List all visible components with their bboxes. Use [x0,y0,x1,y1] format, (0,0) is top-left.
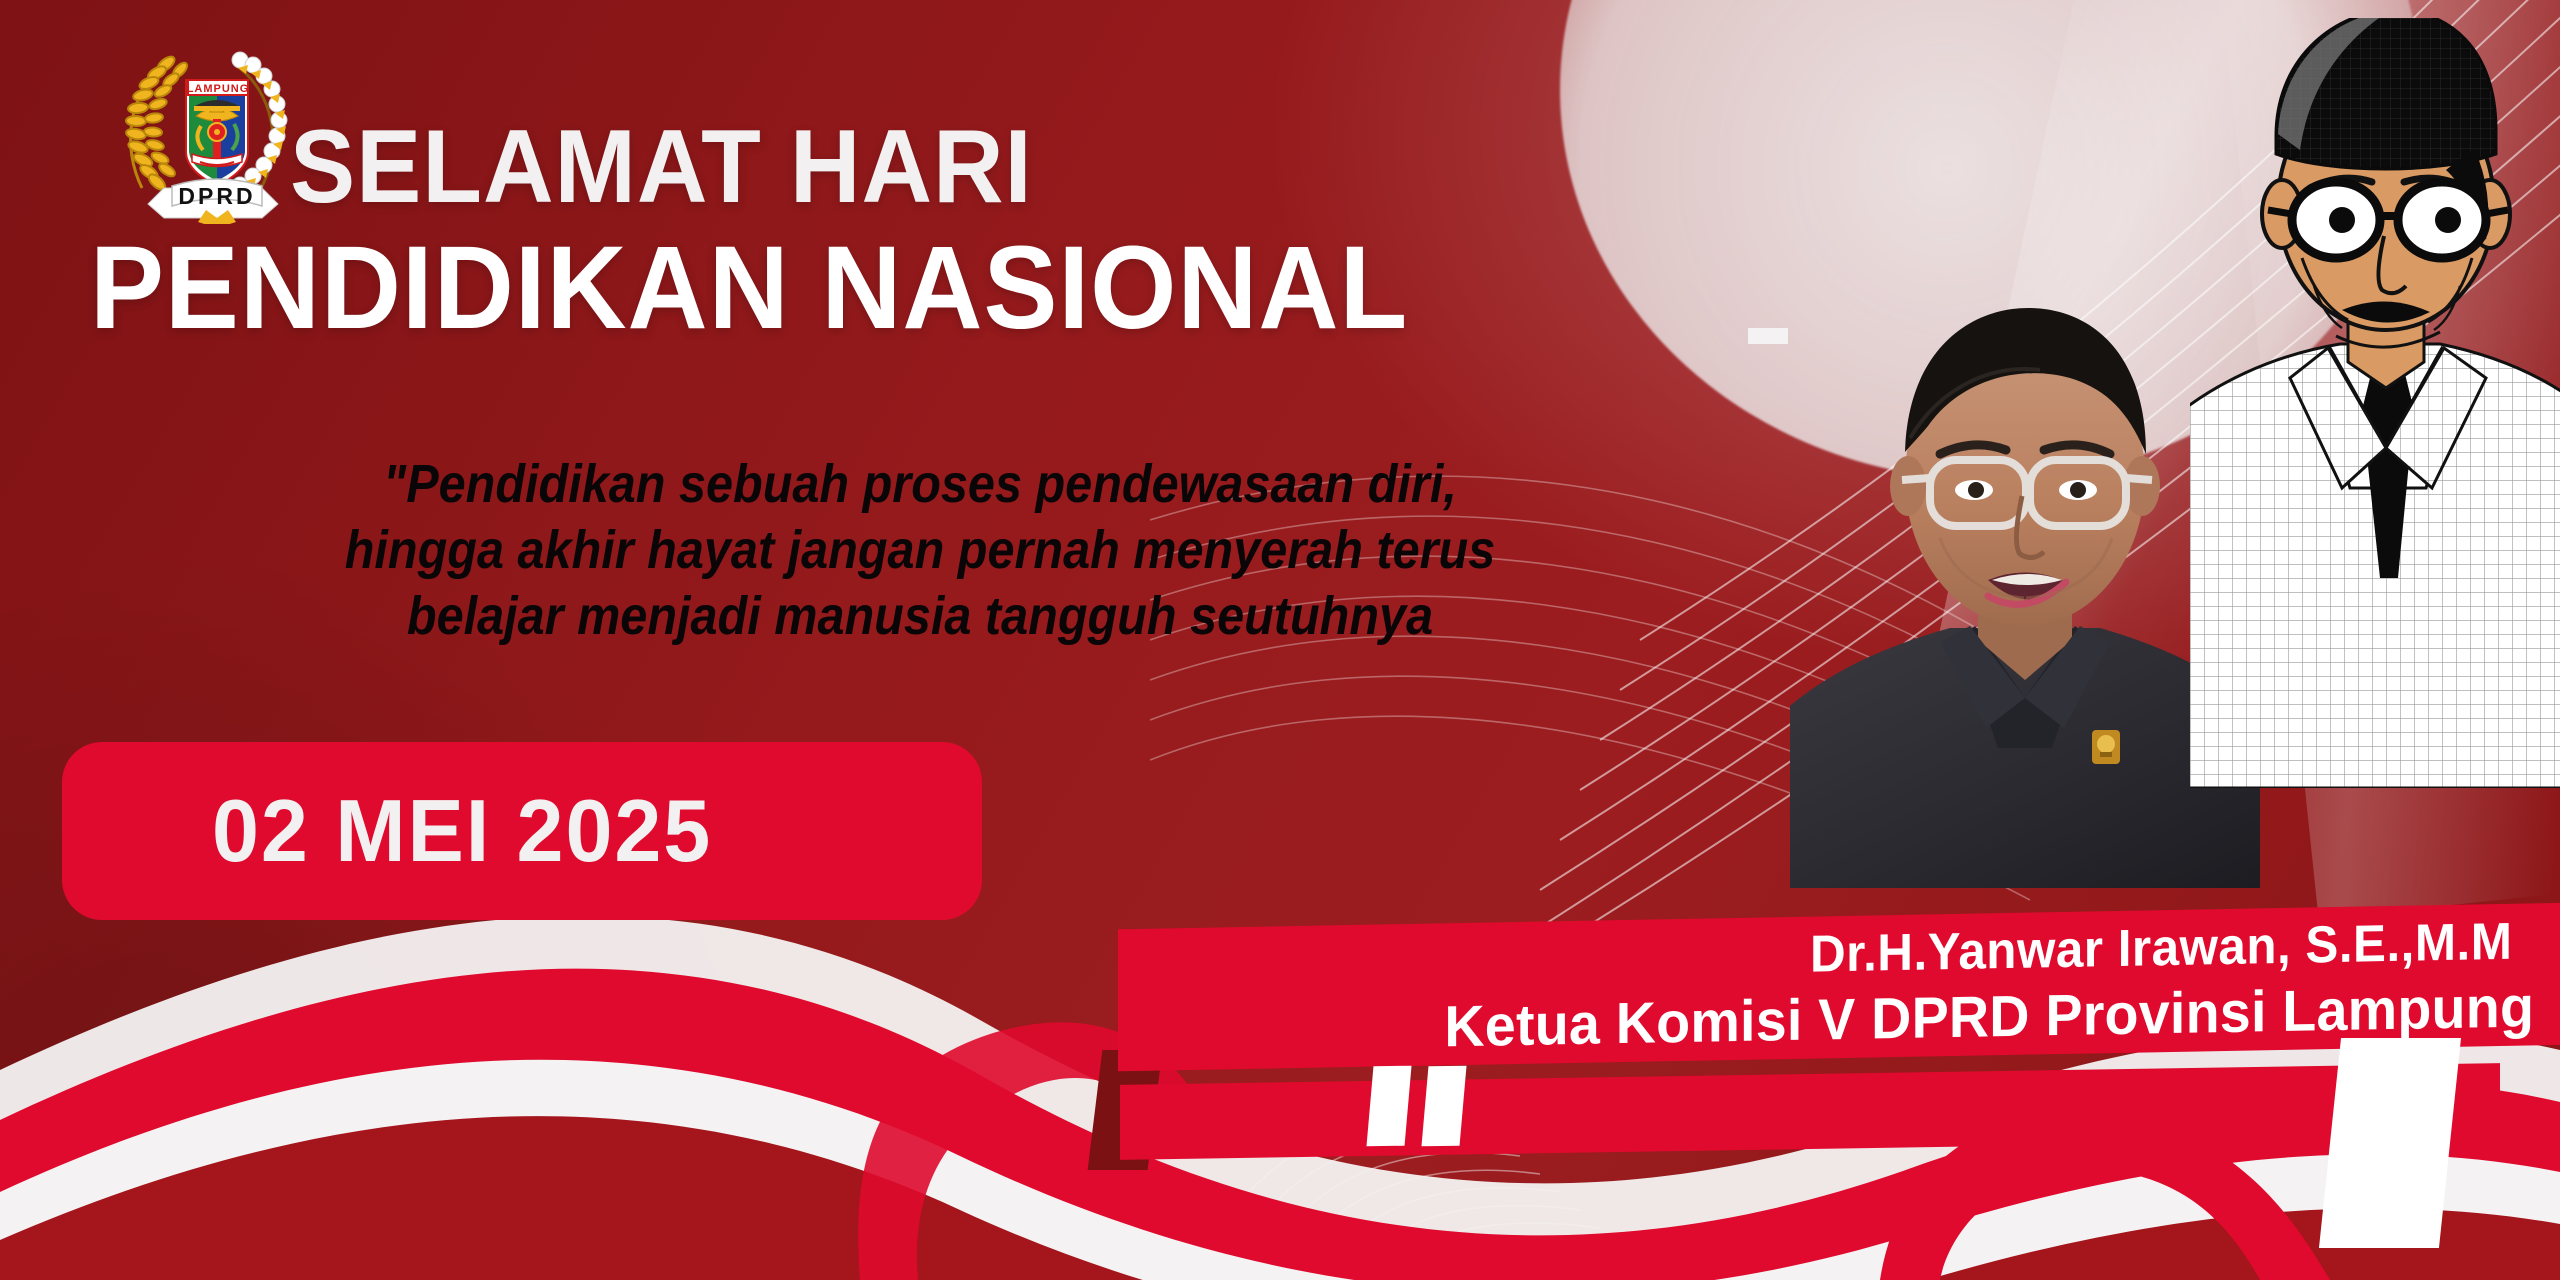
quote-mark-shape-2 [1421,1066,1466,1147]
education-day-greeting-poster: LAMPUNG [0,0,2560,1280]
page-title: SELAMAT HARI PENDIDIKAN NASIONAL [90,118,1650,345]
headline-line-2: PENDIDIKAN NASIONAL [90,232,1556,345]
quote-mark-shape-1 [1366,1066,1411,1147]
decorative-white-slab [2319,1038,2461,1248]
quote-line-2: hingga akhir hayat jangan pernah menyera… [182,518,1658,584]
svg-text:LAMPUNG: LAMPUNG [187,83,250,95]
date-badge: 02 MEI 2025 [62,742,982,920]
decorative-white-chip [1748,328,1788,344]
signature-name: Dr.H.Yanwar Irawan, S.E.,M.M [1810,912,2512,985]
quote-line-3: belajar menjadi manusia tangguh seutuhny… [182,584,1658,650]
quote-text: "Pendidikan sebuah proses pendewasaan di… [182,452,1658,650]
headline-line-1: SELAMAT HARI [290,118,1568,218]
date-badge-label: 02 MEI 2025 [212,780,712,882]
ki-hajar-dewantara-illustration [2190,18,2560,788]
quote-line-1: "Pendidikan sebuah proses pendewasaan di… [182,452,1658,518]
